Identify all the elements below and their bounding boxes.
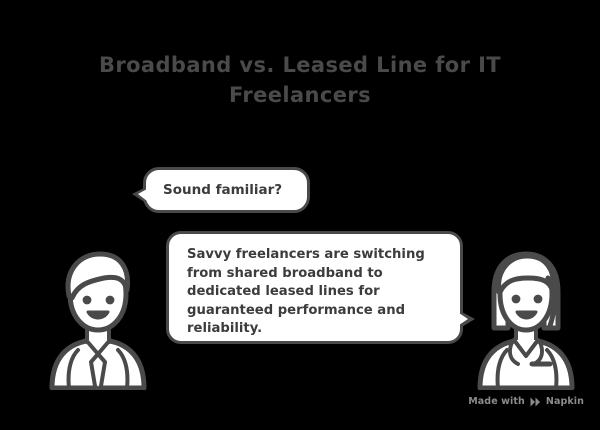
page-title: Broadband vs. Leased Line for IT Freelan… [60,50,540,110]
man-avatar-illustration [42,250,154,390]
slide-canvas: Broadband vs. Leased Line for IT Freelan… [0,0,600,430]
man-mouth [88,312,108,318]
speech-bubble-main-message-text: Savvy freelancers are switching from sha… [187,246,444,339]
speech-bubble-sound-familiar-text: Sound familiar? [163,170,307,210]
woman-avatar-illustration [470,248,582,390]
woman-mouth [517,312,536,318]
woman-right-eye [534,295,543,304]
man-left-eye [83,296,92,305]
woman-avatar [470,248,582,394]
speech-bubble-sound-familiar: Sound familiar? [143,167,310,213]
bubble-tail-left-fill [138,189,147,201]
watermark: Made with Napkin [468,396,584,407]
man-avatar [42,250,154,394]
bubble-tail-right-fill [459,313,468,325]
watermark-brand: Napkin [546,396,584,407]
man-right-eye [106,296,115,305]
napkin-logo-icon [530,397,541,407]
speech-bubble-main-message: Savvy freelancers are switching from sha… [166,231,463,344]
woman-left-eye [512,295,521,304]
watermark-prefix: Made with [468,396,525,407]
man-necktie [91,354,105,390]
